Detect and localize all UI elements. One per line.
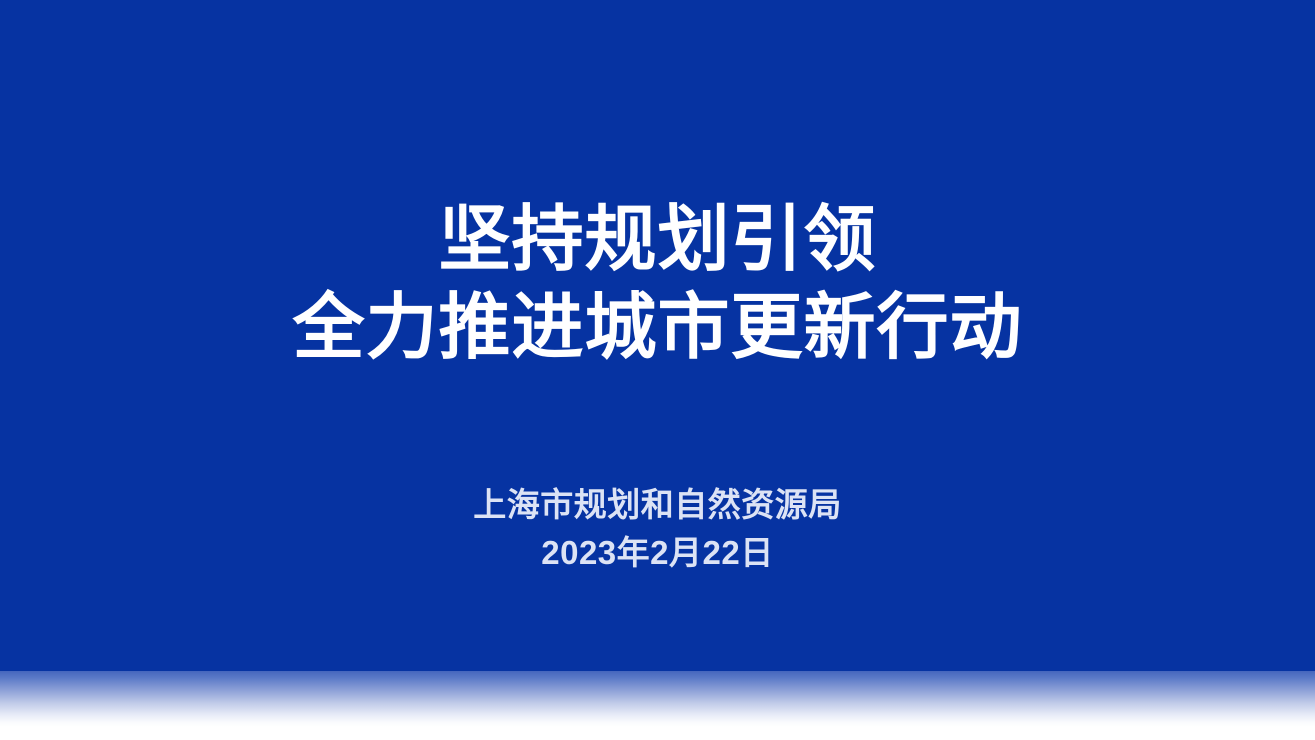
slide-content: 坚持规划引领 全力推进城市更新行动 上海市规划和自然资源局 2023年2月22日 [0,0,1315,671]
title-line-1: 坚持规划引领 [0,196,1315,284]
slide-subtitle: 上海市规划和自然资源局 2023年2月22日 [0,481,1315,577]
slide-title: 坚持规划引领 全力推进城市更新行动 [0,196,1315,372]
title-line-2: 全力推进城市更新行动 [0,284,1315,372]
slide-footer-white-band [0,727,1315,740]
presentation-title-slide: 坚持规划引领 全力推进城市更新行动 上海市规划和自然资源局 2023年2月22日 [0,0,1315,740]
slide-bottom-gradient [0,671,1315,727]
presentation-date: 2023年2月22日 [0,529,1315,577]
organization-name: 上海市规划和自然资源局 [0,481,1315,529]
